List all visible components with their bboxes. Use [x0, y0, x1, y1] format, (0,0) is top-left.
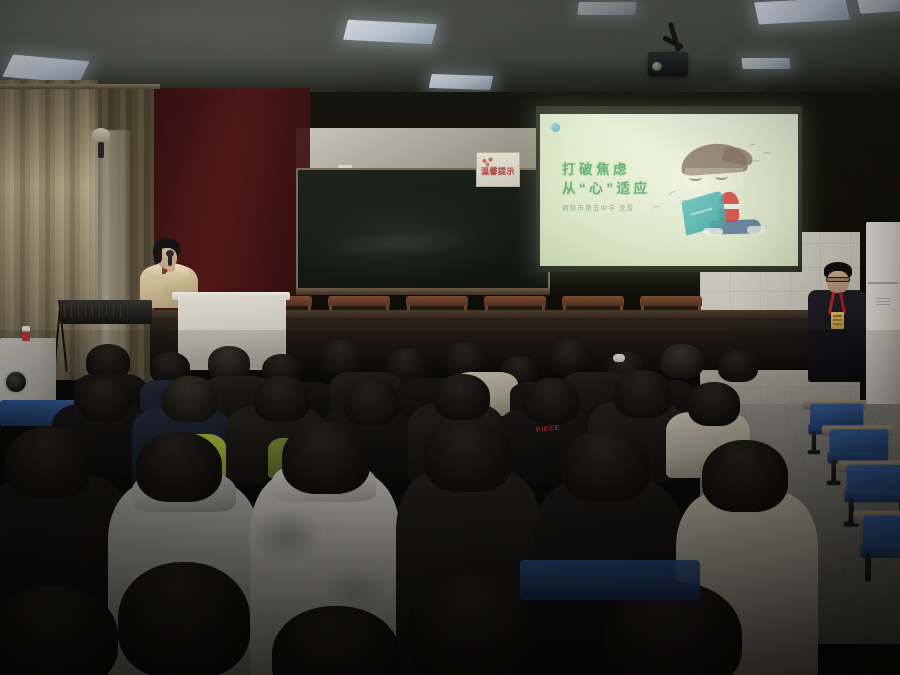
chalk-stick	[338, 165, 352, 168]
projection-screen: 打破焦虑 从“心”适应 铜陵市第五中学 龙雪	[540, 114, 798, 266]
audience-head	[718, 350, 758, 382]
cabinet-vent	[876, 296, 890, 305]
audience-head	[136, 432, 222, 502]
id-badge	[831, 312, 844, 329]
blackboard-chalk-ledge	[296, 288, 550, 295]
audience-head	[208, 346, 250, 380]
slide-title-line-2: 从“心”适应	[562, 178, 651, 199]
curtain-rod	[0, 84, 160, 89]
audience-head	[6, 426, 92, 498]
book-page-line	[691, 208, 712, 216]
audience-head	[702, 440, 788, 512]
audience-head	[688, 382, 740, 426]
student-audience: PIECE	[0, 330, 900, 675]
ceiling-panel-light	[577, 2, 636, 15]
boy-shoe-left	[703, 228, 723, 236]
auditorium-photo: 温馨提示 打破焦虑 从“心”适应 铜陵市第五中学 龙雪	[0, 0, 900, 675]
audience-head	[424, 420, 512, 492]
slide-logo-icon	[551, 123, 560, 132]
slide-illustration-boy-reading	[665, 138, 773, 246]
wall-lamp-stem	[98, 142, 104, 158]
chair-back	[328, 296, 390, 306]
mixer-controls	[64, 305, 122, 317]
microphone-head-icon	[166, 250, 174, 257]
audience-head	[254, 376, 310, 422]
blackboard	[298, 170, 548, 290]
audience-head	[162, 376, 218, 422]
boy-eye-left	[689, 174, 702, 181]
chair-back	[406, 296, 468, 306]
audience-head	[444, 342, 488, 376]
chair-back	[484, 296, 546, 306]
boy-eye-right	[715, 173, 728, 180]
audio-mixer	[60, 300, 152, 324]
audience-head	[282, 422, 370, 494]
chair-back	[640, 296, 702, 306]
ceiling-panel-light	[429, 74, 494, 90]
boy-shoe-right	[747, 226, 765, 234]
slide-title-line-1: 打破焦虑	[562, 159, 630, 180]
ceiling-panel-light	[741, 58, 790, 69]
audience-head	[78, 378, 132, 422]
staff-face	[827, 271, 849, 293]
audience-head	[660, 344, 704, 378]
wall-poster: 温馨提示	[476, 152, 520, 187]
presenter-hair-side	[153, 243, 162, 263]
audience-head-foreground	[118, 562, 250, 675]
audience-head	[434, 374, 490, 420]
audience-head	[320, 340, 364, 376]
chalk-smudge	[322, 222, 479, 264]
poster-text: 温馨提示	[481, 166, 515, 186]
cabinet-seam	[868, 282, 898, 284]
audience-head	[562, 430, 650, 502]
face-mask	[613, 354, 625, 362]
glasses-icon	[826, 277, 850, 282]
audience-head	[548, 340, 592, 374]
slide-subtitle: 铜陵市第五中学 龙雪	[562, 202, 634, 212]
audience-head	[344, 380, 400, 426]
chair-back	[562, 296, 624, 306]
audience-head	[614, 370, 672, 418]
front-seat-backrest	[520, 560, 700, 600]
audience-head	[524, 378, 580, 424]
